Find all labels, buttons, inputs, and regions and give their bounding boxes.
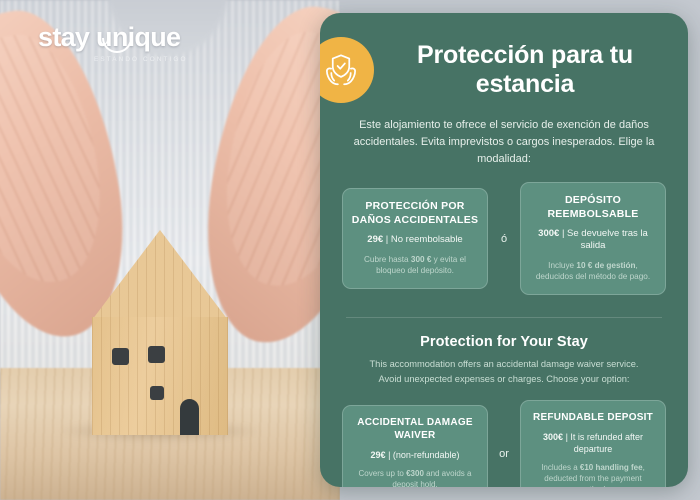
option-price: 29€ [371, 450, 386, 460]
option-note: Cubre hasta 300 € y evita el bloqueo del… [351, 254, 479, 277]
option-note-strong: 300 € [411, 255, 432, 264]
option-price-terms: (non-refundable) [393, 450, 460, 460]
option-card-refundable-deposit-en[interactable]: REFUNDABLE DEPOSIT 300€ | It is refunded… [520, 400, 666, 487]
option-price: 300€ [543, 432, 563, 442]
option-note-strong: 10 € de gestión [576, 261, 635, 270]
option-title: DEPÓSITO REEMBOLSABLE [529, 194, 657, 221]
option-price-divider: | [566, 432, 568, 442]
option-price-line: 29€ | (non-refundable) [351, 450, 479, 462]
options-separator-en: or [496, 448, 512, 460]
option-price: 300€ [538, 228, 559, 239]
option-note-prefix: Includes a [541, 463, 580, 472]
protection-panel: Protección para tu estancia Este alojami… [320, 13, 688, 487]
page-title-en: Protection for Your Stay [320, 318, 688, 350]
options-row-es: PROTECCIÓN POR DAÑOS ACCIDENTALES 29€ | … [320, 168, 688, 295]
house-body [92, 317, 228, 435]
options-row-en: ACCIDENTAL DAMAGE WAIVER 29€ | (non-refu… [320, 386, 688, 487]
house-window-left [112, 348, 129, 365]
option-title: REFUNDABLE DEPOSIT [529, 412, 657, 425]
house-door [180, 399, 199, 435]
house-window-right [148, 346, 165, 363]
shield-in-hands-icon [320, 37, 374, 103]
page-title: Protección para tu estancia [388, 41, 666, 100]
brand-logo-wordmark: stay unique [38, 24, 218, 51]
option-card-refundable-deposit-es[interactable]: DEPÓSITO REEMBOLSABLE 300€ | Se devuelve… [520, 182, 666, 295]
option-note: Includes a €10 handling fee, deducted fr… [529, 462, 657, 487]
hero-photo [0, 0, 340, 500]
option-price-terms: No reembolsable [391, 234, 463, 245]
option-price-line: 29€ | No reembolsable [351, 234, 479, 246]
option-price-divider: | [562, 228, 564, 239]
option-note-strong: €10 handling fee [580, 463, 643, 472]
option-price-line: 300€ | Se devuelve tras la salida [529, 228, 657, 253]
brand-logo-tagline: ESTANDO CONTIGO [94, 56, 218, 63]
option-note-prefix: Incluye [548, 261, 576, 270]
option-note-prefix: Covers up to [359, 469, 407, 478]
option-title: PROTECCIÓN POR DAÑOS ACCIDENTALES [351, 200, 479, 227]
panel-description-es: Este alojamiento te ofrece el servicio d… [320, 103, 688, 168]
option-price-line: 300€ | It is refunded after departure [529, 432, 657, 455]
option-note-prefix: Cubre hasta [364, 255, 411, 264]
brand-logo-word-stay: stay [38, 22, 96, 52]
option-note: Covers up to €300 and avoids a deposit h… [351, 468, 479, 487]
option-price-terms: It is refunded after departure [570, 432, 643, 454]
photo-wooden-house [92, 230, 228, 435]
options-separator-es: ó [496, 233, 512, 245]
brand-logo: stay unique ESTANDO CONTIGO [38, 24, 218, 63]
option-card-accidental-damage-en[interactable]: ACCIDENTAL DAMAGE WAIVER 29€ | (non-refu… [342, 405, 488, 487]
house-window-lower [150, 386, 164, 400]
option-price: 29€ [367, 234, 383, 245]
option-note: Incluye 10 € de gestión, deducidos del m… [529, 260, 657, 283]
option-price-terms: Se devuelve tras la salida [567, 228, 648, 251]
panel-description-en: This accommodation offers an accidental … [320, 350, 688, 386]
option-note-strong: €300 [406, 469, 424, 478]
panel-header: Protección para tu estancia [320, 13, 688, 103]
option-card-accidental-damage-es[interactable]: PROTECCIÓN POR DAÑOS ACCIDENTALES 29€ | … [342, 188, 488, 289]
option-price-divider: | [386, 234, 388, 245]
screenshot-root: stay unique ESTANDO CONTIGO Protección p… [0, 0, 700, 500]
option-price-divider: | [388, 450, 390, 460]
option-title: ACCIDENTAL DAMAGE WAIVER [351, 417, 479, 443]
